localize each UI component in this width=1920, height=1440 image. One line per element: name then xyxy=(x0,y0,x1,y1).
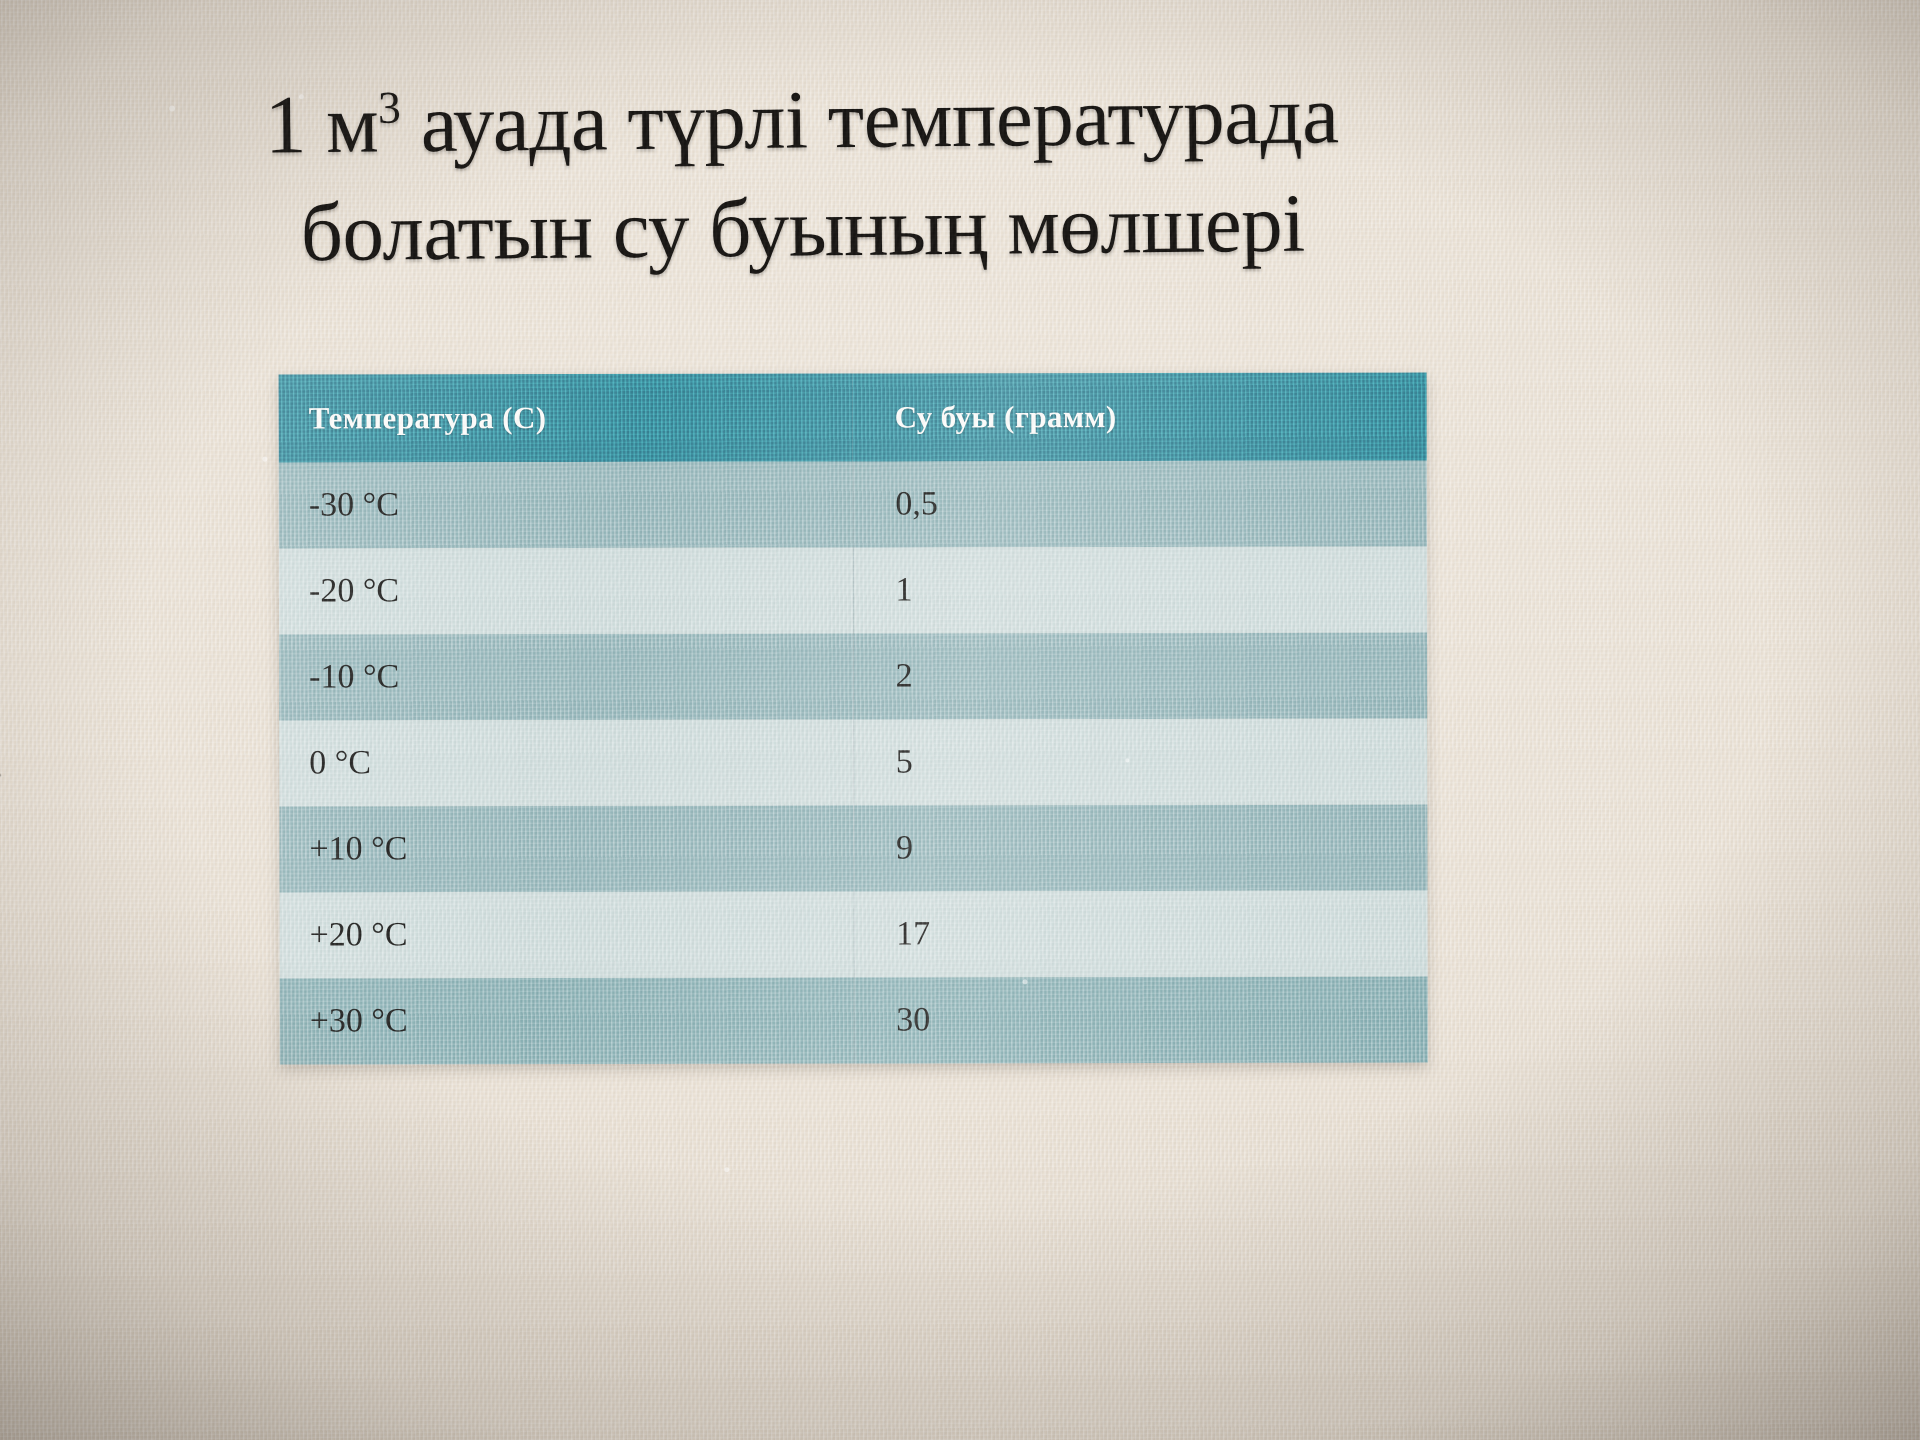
projected-slide-surface: 1 м3 ауада түрлі температурада болатын с… xyxy=(0,0,1920,1440)
table-row: +10 °C 9 xyxy=(279,805,1427,893)
water-vapor-table: Температура (С) Су буы (грамм) -30 °C 0,… xyxy=(279,373,1428,1065)
cell-vapor: 5 xyxy=(853,719,1427,806)
table-body: -30 °C 0,5 -20 °C 1 -10 °C 2 0 °C 5 xyxy=(279,461,1428,1065)
dust-speck xyxy=(262,457,267,462)
cell-temperature: +20 °C xyxy=(280,892,854,979)
cell-vapor: 2 xyxy=(853,633,1427,720)
screenshot-root: 1 м3 ауада түрлі температурада болатын с… xyxy=(0,0,1920,1440)
table-row: 0 °C 5 xyxy=(279,719,1427,807)
cubic-exponent: 3 xyxy=(378,82,401,133)
table-row: -10 °C 2 xyxy=(279,633,1427,721)
cell-temperature: 0 °C xyxy=(279,720,853,807)
cell-vapor: 1 xyxy=(853,547,1427,634)
dust-speck xyxy=(724,1167,729,1172)
title-line-1-post: ауада түрлі температурада xyxy=(400,68,1339,169)
cell-vapor: 0,5 xyxy=(853,461,1427,548)
column-header-vapor: Су буы (грамм) xyxy=(853,373,1427,462)
page-title: 1 м3 ауада түрлі температурада болатын с… xyxy=(129,60,1476,289)
table-row: +20 °C 17 xyxy=(280,891,1428,979)
cell-temperature: +30 °C xyxy=(280,978,854,1065)
title-line-1: 1 м3 ауада түрлі температурада xyxy=(129,60,1475,181)
mouse-pointer-icon xyxy=(0,757,5,791)
cell-vapor: 17 xyxy=(854,891,1428,978)
table-row: -30 °C 0,5 xyxy=(279,461,1427,549)
cell-temperature: +10 °C xyxy=(279,806,853,893)
cell-temperature: -30 °C xyxy=(279,462,853,549)
title-line-1-pre: 1 м xyxy=(264,78,378,171)
table-header-row: Температура (С) Су буы (грамм) xyxy=(279,373,1427,463)
column-header-temperature: Температура (С) xyxy=(279,374,853,463)
cell-vapor: 9 xyxy=(853,805,1427,892)
cell-temperature: -20 °C xyxy=(279,548,853,635)
cell-temperature: -10 °C xyxy=(279,634,853,721)
cell-vapor: 30 xyxy=(854,977,1428,1064)
vapor-table-container: Температура (С) Су буы (грамм) -30 °C 0,… xyxy=(279,373,1428,1065)
table-row: -20 °C 1 xyxy=(279,547,1427,635)
table-row: +30 °C 30 xyxy=(280,977,1428,1065)
table-header: Температура (С) Су буы (грамм) xyxy=(279,373,1427,463)
title-line-2: болатын су буының мөлшері xyxy=(130,168,1476,289)
